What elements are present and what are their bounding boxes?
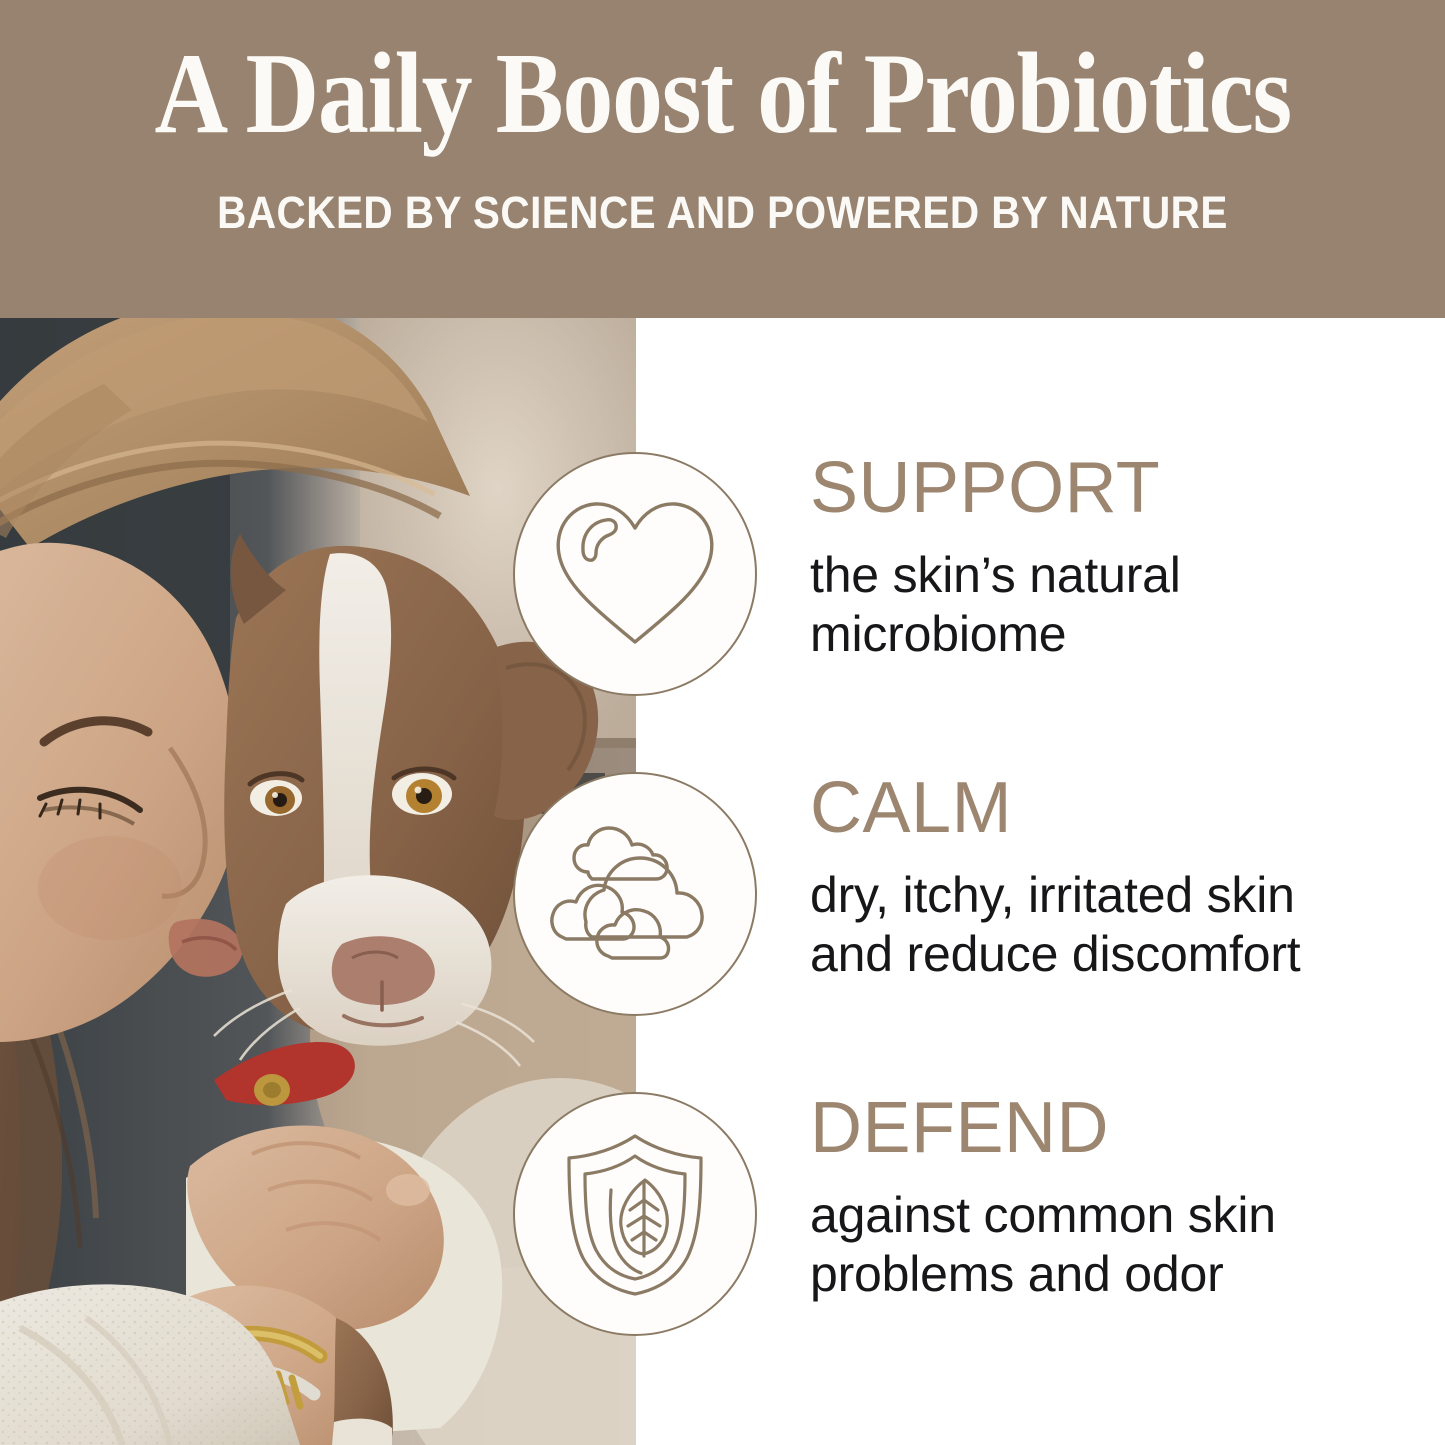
shield-leaf-icon xyxy=(557,1130,713,1298)
benefit-body-line: the skin’s natural xyxy=(810,546,1430,605)
benefit-body-support: the skin’s natural microbiome xyxy=(810,546,1430,664)
benefit-icon-circle-defend xyxy=(513,1092,757,1336)
promo-graphic: A Daily Boost of Probiotics BACKED BY SC… xyxy=(0,0,1445,1445)
benefit-support: SUPPORT the skin’s natural microbiome xyxy=(810,452,1430,664)
benefit-title-defend: DEFEND xyxy=(810,1092,1430,1164)
page-subtitle: BACKED BY SCIENCE AND POWERED BY NATURE xyxy=(217,190,1228,235)
benefit-body-calm: dry, itchy, irritated skin and reduce di… xyxy=(810,866,1430,984)
header-banner: A Daily Boost of Probiotics BACKED BY SC… xyxy=(0,0,1445,318)
benefit-body-line: dry, itchy, irritated skin xyxy=(810,866,1430,925)
benefit-icon-circle-support xyxy=(513,452,757,696)
benefit-body-line: microbiome xyxy=(810,605,1430,664)
benefit-icon-circle-calm xyxy=(513,772,757,1016)
clouds-icon xyxy=(546,824,724,964)
benefit-body-line: problems and odor xyxy=(810,1245,1430,1304)
benefit-body-line: and reduce discomfort xyxy=(810,925,1430,984)
heart-icon xyxy=(549,494,721,654)
benefit-title-calm: CALM xyxy=(810,772,1430,844)
benefit-body-line: against common skin xyxy=(810,1186,1430,1245)
page-title: A Daily Boost of Probiotics xyxy=(154,36,1290,152)
benefit-title-support: SUPPORT xyxy=(810,452,1430,524)
benefit-body-defend: against common skin problems and odor xyxy=(810,1186,1430,1304)
benefit-defend: DEFEND against common skin problems and … xyxy=(810,1092,1430,1304)
benefit-calm: CALM dry, itchy, irritated skin and redu… xyxy=(810,772,1430,984)
